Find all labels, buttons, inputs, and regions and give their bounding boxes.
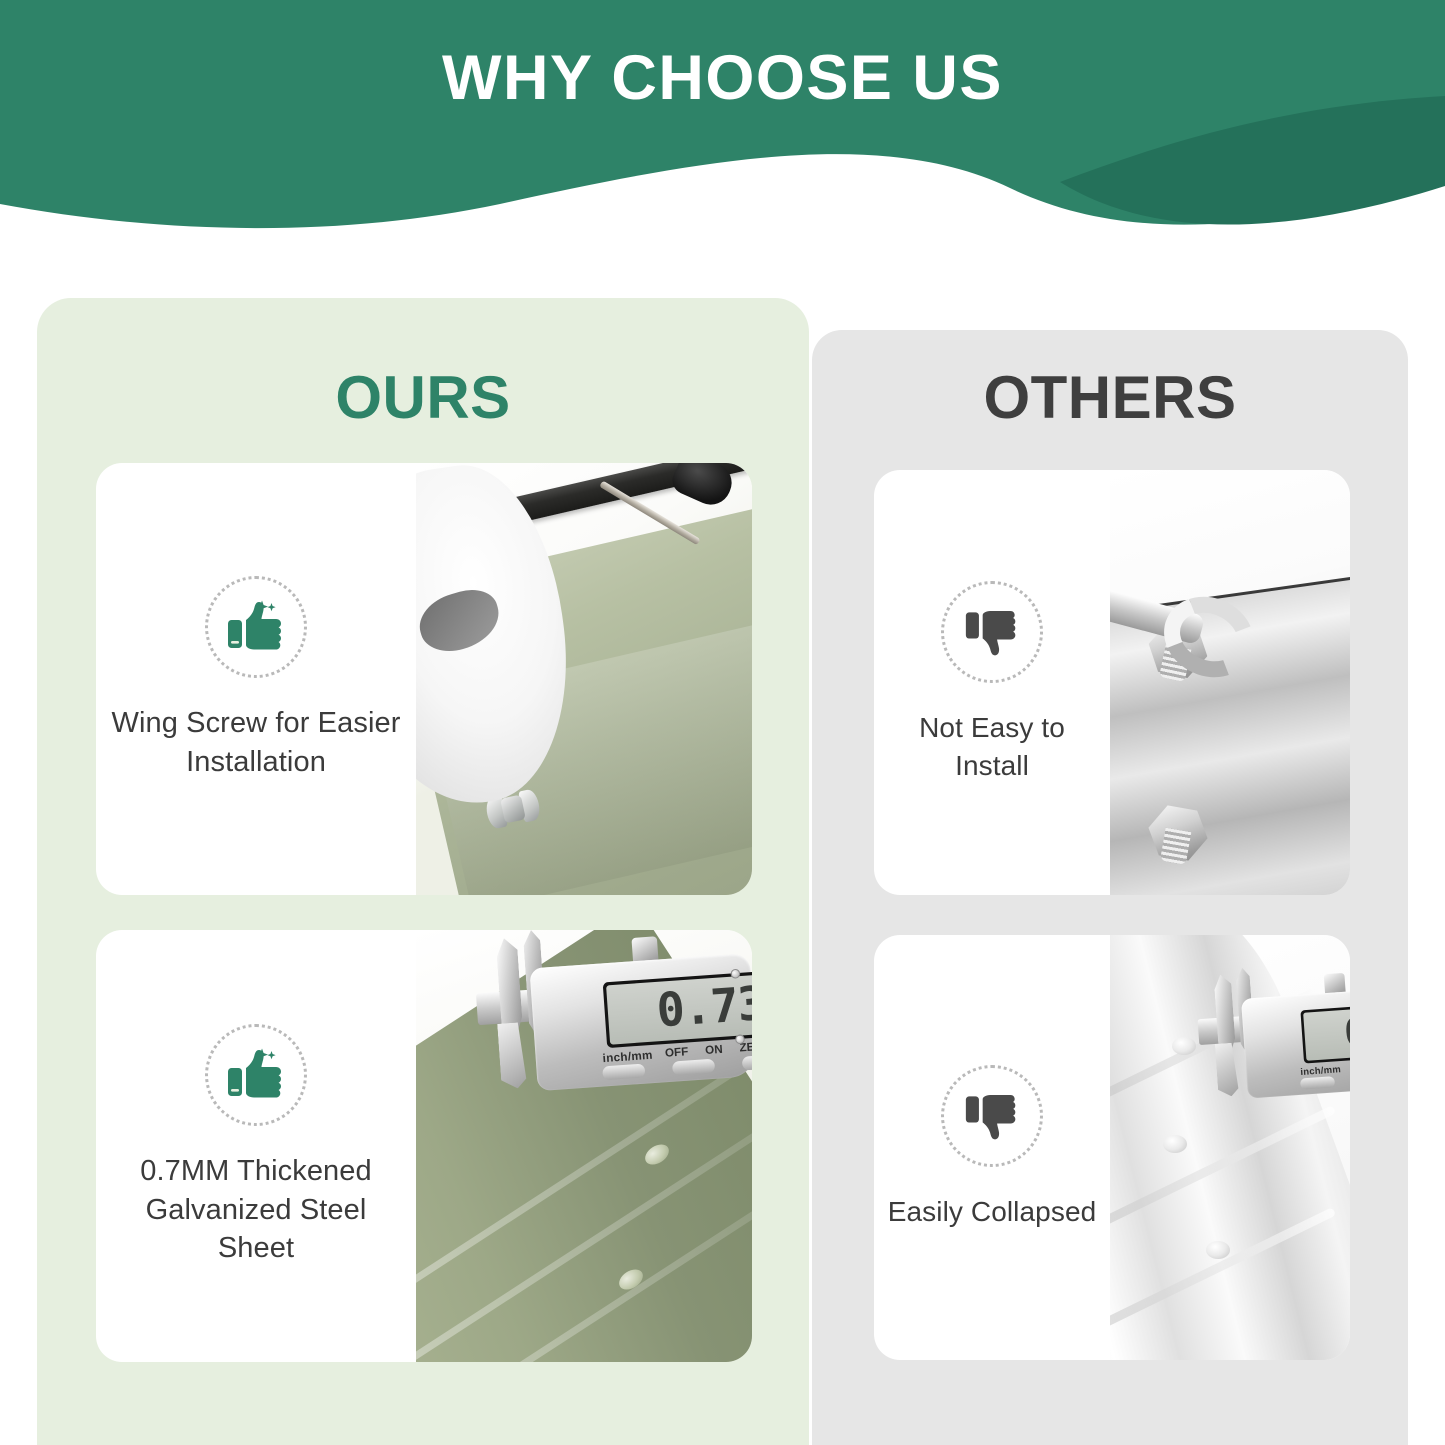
caliper-body: 0.33 mm inch/mm OFF ON ZERO [1241, 987, 1350, 1099]
caliper-key-off [1300, 1076, 1335, 1090]
card-photo-caliper-white: 0.33 mm inch/mm OFF ON ZERO [1110, 935, 1350, 1360]
photo-caliper-white-panel: 0.33 mm inch/mm OFF ON ZERO [1110, 935, 1350, 1360]
caliper-key-zero [742, 1054, 752, 1071]
caliper-lcd-screen: 0.73 mm [606, 974, 752, 1045]
digital-caliper-white: 0.33 mm inch/mm OFF ON ZERO [1196, 979, 1350, 1151]
caliper-body: 0.73 mm inch/mm OFF ON ZERO [529, 953, 752, 1091]
card-label: Wing Screw for Easier Installation [104, 704, 408, 781]
hex-bolt-lower [1144, 801, 1212, 865]
feature-card-others-collapsed: Easily Collapsed [874, 935, 1350, 1360]
card-label: Not Easy to Install [880, 709, 1104, 783]
photo-gloved-hand-wing-screw [416, 463, 752, 895]
header-banner: WHY CHOOSE US [0, 0, 1445, 240]
card-photo-wrench [1110, 470, 1350, 895]
ours-heading: OURS [37, 363, 809, 432]
feature-card-ours-wing-screw: Wing Screw for Easier Installation [96, 463, 752, 895]
card-text-column: Not Easy to Install [874, 470, 1110, 895]
thumbs-down-glyph [964, 604, 1020, 660]
panel-rivet [1206, 1241, 1230, 1259]
thumbs-down-icon [941, 581, 1043, 683]
panel-rivet [1163, 1135, 1187, 1153]
caliper-key-off [602, 1064, 645, 1081]
thumbs-up-sparkle-icon [205, 576, 307, 678]
card-photo-wing-screw [416, 463, 752, 895]
caliper-reading: 0.33 [1343, 1005, 1350, 1057]
thumbs-up-glyph [226, 1046, 286, 1104]
caliper-lcd-frame: 0.73 mm [603, 970, 752, 1048]
page-title: WHY CHOOSE US [0, 44, 1445, 113]
thumbs-down-icon [941, 1065, 1043, 1167]
caliper-lcd-frame: 0.33 mm [1300, 1000, 1350, 1063]
photo-wrench-hex-bolts [1110, 470, 1350, 895]
digital-caliper-green: 70 0.73 mm inch/mm [474, 944, 752, 1157]
caliper-key-on [672, 1059, 715, 1076]
card-label: 0.7MM Thickened Galvanized Steel Sheet [104, 1152, 408, 1268]
screwdriver-handle [668, 463, 738, 511]
feature-card-others-hard-install: Not Easy to Install [874, 470, 1350, 895]
infographic-canvas: WHY CHOOSE US OURS Wing Screw for Easier… [0, 0, 1445, 1445]
caliper-off-label: OFF [665, 1046, 689, 1060]
thumbs-up-glyph [226, 598, 286, 656]
thumbs-down-glyph [964, 1088, 1020, 1144]
photo-caliper-green-panel: 70 0.73 mm inch/mm [416, 930, 752, 1362]
card-photo-caliper-green: 70 0.73 mm inch/mm [416, 930, 752, 1362]
feature-card-ours-steel-thickness: 0.7MM Thickened Galvanized Steel Sheet 7… [96, 930, 752, 1362]
thumbs-up-sparkle-icon [205, 1024, 307, 1126]
caliper-lcd-screen: 0.33 mm [1303, 1003, 1350, 1061]
card-text-column: 0.7MM Thickened Galvanized Steel Sheet [96, 930, 416, 1362]
header-wave-graphic [0, 0, 1445, 240]
caliper-reading: 0.73 [655, 976, 752, 1041]
card-text-column: Wing Screw for Easier Installation [96, 463, 416, 895]
caliper-on-label: ON [705, 1043, 723, 1057]
others-heading: OTHERS [812, 363, 1408, 432]
card-text-column: Easily Collapsed [874, 935, 1110, 1360]
card-label: Easily Collapsed [888, 1193, 1097, 1230]
